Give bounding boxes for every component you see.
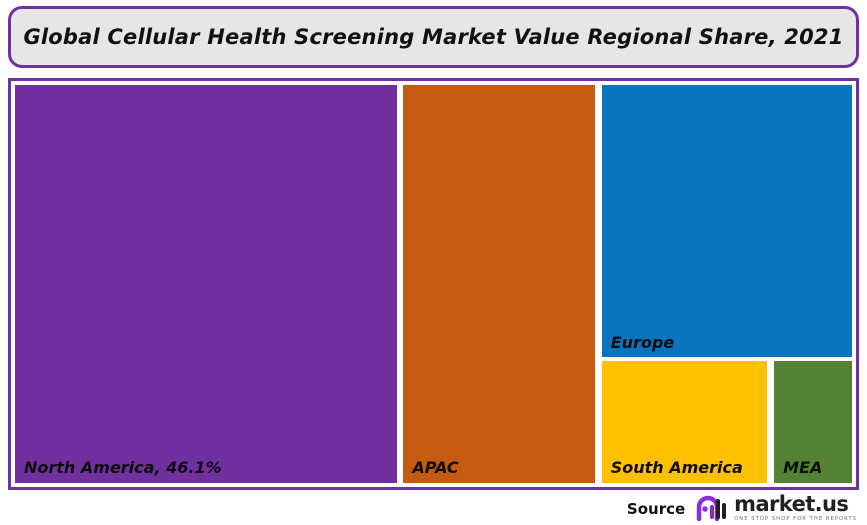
infographic-root: Global Cellular Health Screening Market …: [0, 0, 867, 525]
treemap-cell-europe[interactable]: Europe: [602, 85, 852, 357]
treemap-cell-label-south-america: South America: [611, 459, 743, 477]
treemap-cell-apac[interactable]: APAC: [403, 85, 595, 483]
treemap-chart: North America, 46.1% APAC Europe South A…: [15, 85, 852, 483]
treemap-cell-label-north-america: North America, 46.1%: [24, 459, 222, 477]
brand-textblock: market.us ONE STOP SHOP FOR THE REPORTS: [734, 494, 857, 522]
treemap-cell-south-america[interactable]: South America: [602, 361, 768, 483]
treemap-cell-mea[interactable]: MEA: [774, 361, 852, 483]
footer: Source market.us ONE STOP SHOP FOR THE R…: [0, 492, 867, 525]
chart-title-bar: Global Cellular Health Screening Market …: [8, 6, 859, 68]
chart-frame: North America, 46.1% APAC Europe South A…: [8, 78, 859, 490]
treemap-cell-label-mea: MEA: [783, 459, 822, 477]
source-label: Source: [627, 500, 685, 518]
brand-name: market.us: [734, 494, 857, 515]
page-title: Global Cellular Health Screening Market …: [23, 25, 843, 49]
market-us-logo-icon: [695, 494, 729, 522]
treemap-cell-label-europe: Europe: [611, 334, 675, 352]
treemap-cell-north-america[interactable]: North America, 46.1%: [15, 85, 397, 483]
treemap-cell-label-apac: APAC: [412, 459, 458, 477]
brand-tagline: ONE STOP SHOP FOR THE REPORTS: [734, 517, 857, 522]
brand-logo[interactable]: market.us ONE STOP SHOP FOR THE REPORTS: [695, 494, 857, 522]
